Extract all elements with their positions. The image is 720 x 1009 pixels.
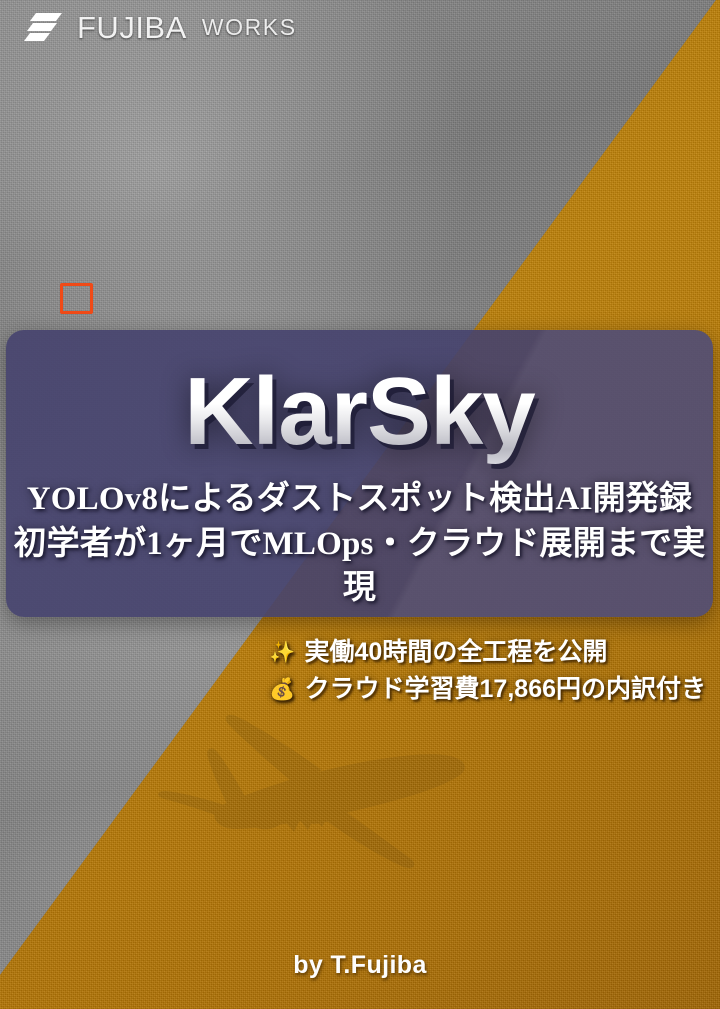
- brand-header: FUJIBA WORKS: [24, 10, 297, 44]
- feature-item: ✨ 実働40時間の全工程を公開: [269, 637, 706, 669]
- dust-spot-detection-box: [60, 283, 93, 314]
- fujiba-bars-icon: [24, 10, 64, 44]
- brand-suffix: WORKS: [202, 16, 297, 39]
- page-title: KlarSky: [6, 360, 713, 464]
- money-bag-icon: 💰: [269, 679, 295, 700]
- brand-name: FUJIBA: [77, 12, 187, 43]
- feature-item: 💰 クラウド学習費17,866円の内訳付き: [269, 674, 706, 706]
- sparkles-icon: ✨: [269, 642, 295, 663]
- poster-canvas: FUJIBA WORKS KlarSky YOLOv8によるダストスポット検出A…: [0, 0, 720, 1009]
- subtitle-line-1: YOLOv8によるダストスポット検出AI開発録: [6, 478, 713, 522]
- feature-label: クラウド学習費17,866円の内訳付き: [305, 674, 706, 706]
- feature-label: 実働40時間の全工程を公開: [305, 637, 608, 669]
- subtitle-line-2: 初学者が1ヶ月でMLOps・クラウド展開まで実現: [6, 523, 713, 610]
- title-card: KlarSky YOLOv8によるダストスポット検出AI開発録 初学者が1ヶ月で…: [6, 330, 713, 617]
- author-byline: by T.Fujiba: [0, 951, 720, 980]
- feature-list: ✨ 実働40時間の全工程を公開 💰 クラウド学習費17,866円の内訳付き: [269, 637, 706, 705]
